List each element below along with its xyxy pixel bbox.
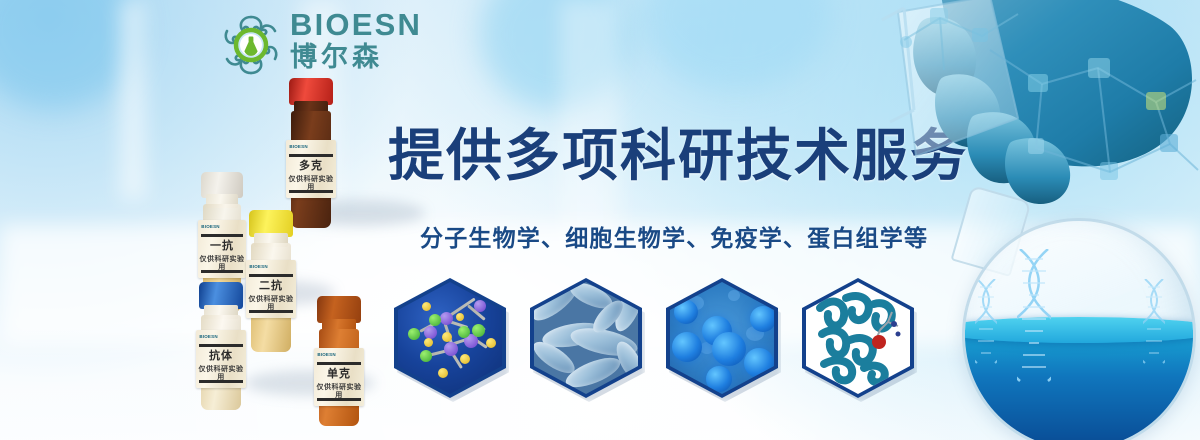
vial-label-bar bbox=[317, 362, 360, 365]
atom-yellow bbox=[442, 332, 452, 342]
molecule-illustration bbox=[398, 282, 502, 394]
dna-double-helix bbox=[1017, 249, 1051, 399]
vial-label-brand: BIOESN bbox=[249, 264, 267, 269]
dna-double-helix bbox=[1143, 279, 1165, 375]
cells-illustration bbox=[670, 282, 774, 394]
atom-green bbox=[408, 328, 420, 340]
vial-polyclonal[interactable]: BIOESN 多克 仅供科研实验用 bbox=[289, 78, 333, 228]
protein-structure-hexagon[interactable] bbox=[802, 278, 914, 398]
product-vials-group: BIOESN 一抗 仅供科研实验用 BIOESN 多克 仅供科研实验用 bbox=[185, 70, 405, 410]
atom-purple bbox=[444, 342, 458, 356]
bacteria-illustration bbox=[534, 282, 638, 394]
dna-double-helix bbox=[975, 279, 997, 375]
vial-label-text: 抗体 bbox=[196, 350, 245, 362]
cells-hexagon[interactable] bbox=[666, 278, 778, 398]
bokeh-blob bbox=[640, 0, 830, 90]
vial-monoclonal[interactable]: BIOESN 单克 仅供科研实验用 bbox=[317, 296, 361, 426]
cell bbox=[672, 332, 702, 362]
protein-illustration bbox=[806, 282, 910, 394]
cell-speck bbox=[728, 290, 740, 301]
atom-yellow bbox=[456, 313, 464, 321]
vial-label-text: 多克 bbox=[286, 160, 335, 172]
vial-label: BIOESN 二抗 仅供科研实验用 bbox=[246, 260, 295, 318]
atom-purple bbox=[440, 312, 453, 325]
molecular-network-hexagon[interactable] bbox=[394, 278, 506, 398]
vial-label-bar bbox=[289, 154, 332, 157]
atom-yellow bbox=[438, 368, 448, 378]
vial-label-bar bbox=[317, 398, 360, 401]
vial-secondary-antibody[interactable]: BIOESN 二抗 仅供科研实验用 bbox=[249, 210, 293, 352]
vial-label: BIOESN 一抗 仅供科研实验用 bbox=[198, 220, 245, 278]
vial-label-bar bbox=[289, 190, 332, 193]
cell bbox=[674, 300, 698, 324]
atom-green bbox=[458, 326, 470, 338]
background-streak bbox=[120, 0, 146, 200]
vial-label-bar bbox=[199, 380, 242, 383]
vial-label-brand: BIOESN bbox=[201, 224, 219, 229]
atom-green bbox=[420, 350, 432, 362]
vial-label-text: 二抗 bbox=[246, 280, 295, 292]
atom-green bbox=[429, 314, 441, 326]
bokeh-blob bbox=[480, 0, 630, 110]
atom-yellow bbox=[460, 354, 470, 364]
hexagon-icon-row bbox=[394, 278, 914, 398]
vial-label-bar bbox=[201, 270, 242, 273]
vial-label: BIOESN 抗体 仅供科研实验用 bbox=[196, 330, 245, 388]
vial-label-text: 单克 bbox=[314, 368, 363, 380]
atom-green bbox=[472, 324, 485, 337]
vial-label: BIOESN 单克 仅供科研实验用 bbox=[314, 348, 363, 406]
cell bbox=[712, 332, 746, 366]
cell bbox=[750, 306, 774, 332]
subheadline: 分子生物学、细胞生物学、免疫学、蛋白组学等 bbox=[420, 223, 928, 253]
round-flask-with-dna bbox=[954, 188, 1200, 440]
bacteria-hexagon[interactable] bbox=[530, 278, 642, 398]
cell bbox=[706, 366, 732, 392]
brand-name-cn: 博尔森 bbox=[290, 42, 414, 73]
vial-label-bar bbox=[199, 344, 242, 347]
flask-bulb bbox=[962, 218, 1196, 440]
brand-name-en: BIOESN bbox=[290, 8, 414, 42]
vial-label-brand: BIOESN bbox=[199, 334, 217, 339]
molecular-lineart bbox=[900, 0, 1030, 120]
atom-yellow bbox=[422, 302, 431, 311]
bokeh-blob bbox=[0, 0, 140, 110]
vial-label-bar bbox=[249, 310, 292, 313]
vial-label-brand: BIOESN bbox=[317, 352, 335, 357]
vial-label-text: 一抗 bbox=[198, 240, 245, 252]
vial-antibody-blue[interactable]: BIOESN 抗体 仅供科研实验用 bbox=[199, 282, 243, 410]
vial-label-brand: BIOESN bbox=[289, 144, 307, 149]
atom-purple bbox=[424, 326, 437, 339]
atom-yellow bbox=[486, 338, 496, 348]
atom-yellow bbox=[424, 338, 433, 347]
vial-label: BIOESN 多克 仅供科研实验用 bbox=[286, 140, 335, 198]
banner: BIOESN 博尔森 提供多项科研技术服务 分子生物学、细胞生物学、免疫学、蛋白… bbox=[0, 0, 1200, 440]
atom-purple bbox=[474, 300, 486, 312]
vial-label-bar bbox=[201, 234, 242, 237]
vial-label-bar bbox=[249, 274, 292, 277]
